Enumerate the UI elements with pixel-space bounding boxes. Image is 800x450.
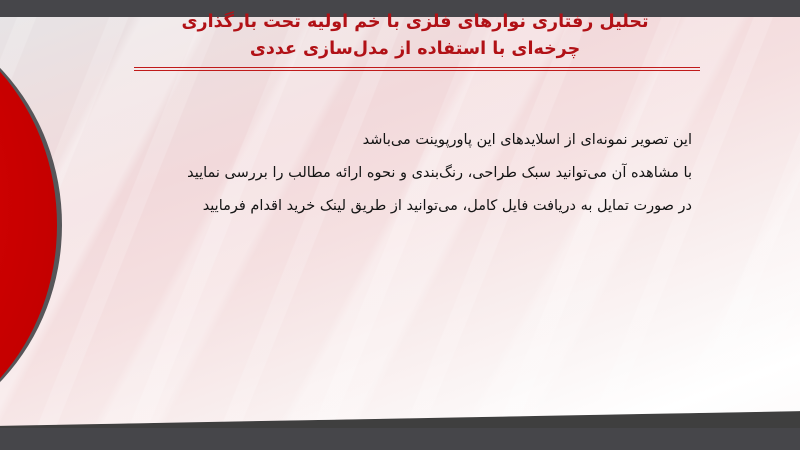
slide-body-block: این تصویر نمونه‌ای از اسلایدهای این پاور… xyxy=(100,124,692,223)
bottom-bar xyxy=(0,428,800,450)
slide-title-line-1: تحلیل رفتاری نوارهای فلزی با خم اولیه تح… xyxy=(130,9,700,36)
title-underline-rule xyxy=(134,67,700,71)
body-line-2: با مشاهده آن می‌توانید سبک طراحی، رنگ‌بن… xyxy=(100,157,692,190)
left-red-curve-decoration xyxy=(0,8,62,442)
body-line-3: در صورت تمایل به دریافت فایل کامل، می‌تو… xyxy=(100,190,692,223)
presentation-slide: تحلیل رفتاری نوارهای فلزی با خم اولیه تح… xyxy=(0,0,800,450)
red-ellipse-shape xyxy=(0,8,62,442)
slide-title-line-2: چرخه‌ای با استفاده از مدل‌سازی عددی xyxy=(130,36,700,63)
body-line-1: این تصویر نمونه‌ای از اسلایدهای این پاور… xyxy=(100,124,692,157)
slide-title-block: تحلیل رفتاری نوارهای فلزی با خم اولیه تح… xyxy=(130,9,700,71)
